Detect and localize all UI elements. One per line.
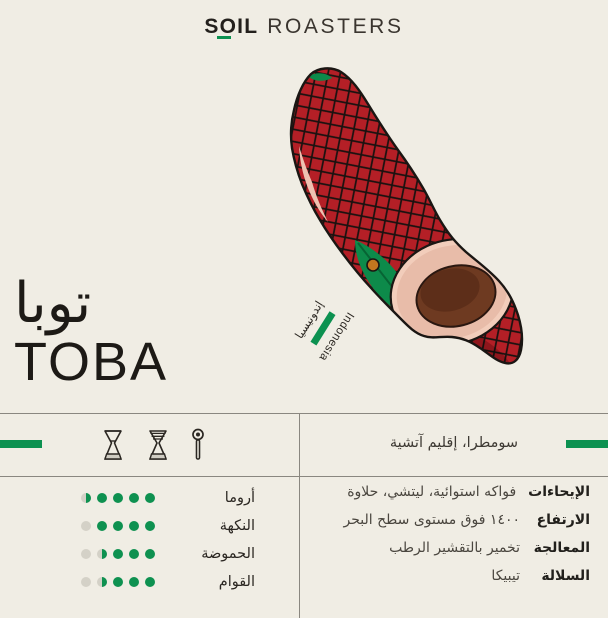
- brew-method-icons: [100, 428, 206, 462]
- brand-soil-wordmark: SOIL: [204, 16, 258, 37]
- accent-bar-right: [566, 440, 608, 448]
- divider-middle: [0, 476, 608, 477]
- detail-key: السلالة: [532, 568, 590, 584]
- rating-dots: [81, 549, 155, 559]
- rating-dot-full: [129, 577, 139, 587]
- accent-bar-left: [0, 440, 42, 448]
- rating-dot-full: [145, 493, 155, 503]
- rating-dot-empty: [81, 577, 91, 587]
- rating-label: أروما: [177, 490, 255, 506]
- detail-row: الإيحاءاتفواكه استوائية، ليتشي، حلاوة: [300, 484, 608, 512]
- detail-value: تيبيكا: [491, 568, 520, 584]
- brand-roasters-text: ROASTERS: [267, 16, 403, 37]
- rating-dot-full: [113, 521, 123, 531]
- rating-row: القوام: [0, 568, 299, 596]
- rating-label: الحموضة: [177, 546, 255, 562]
- skin-flap: [494, 256, 514, 276]
- rating-dot-full: [113, 493, 123, 503]
- detail-row: الارتفاع١٤٠٠ فوق مستوى سطح البحر: [300, 512, 608, 540]
- detail-value: فواكه استوائية، ليتشي، حلاوة: [347, 484, 516, 500]
- ratings-list: أروماالنكهةالحموضةالقوام: [0, 484, 299, 596]
- rating-label: النكهة: [177, 518, 255, 534]
- brand-o-underline-accent: [217, 36, 231, 39]
- detail-key: المعالجة: [532, 540, 590, 556]
- rating-dot-full: [113, 549, 123, 559]
- detail-row: المعالجةتخمير بالتقشير الرطب: [300, 540, 608, 568]
- rating-dot-half: [97, 577, 107, 587]
- rating-row: النكهة: [0, 512, 299, 540]
- rating-dot-full: [129, 549, 139, 559]
- detail-value: تخمير بالتقشير الرطب: [389, 540, 520, 556]
- brand-soil-text: SOIL: [204, 15, 258, 38]
- detail-key: الارتفاع: [532, 512, 590, 528]
- rating-dot-full: [97, 521, 107, 531]
- rating-row: الحموضة: [0, 540, 299, 568]
- rating-row: أروما: [0, 484, 299, 512]
- brand-logo: SOILROASTERS: [0, 16, 608, 37]
- rating-label: القوام: [177, 574, 255, 590]
- rating-dot-full: [129, 493, 139, 503]
- product-title-latin: TOBA: [14, 334, 244, 391]
- stem-nub: [367, 259, 379, 271]
- chemex-icon: [100, 428, 126, 462]
- rating-dot-empty: [81, 549, 91, 559]
- detail-value: ١٤٠٠ فوق مستوى سطح البحر: [344, 512, 520, 528]
- rating-dot-full: [129, 521, 139, 531]
- rating-dot-empty: [81, 521, 91, 531]
- origin-band: سومطرا، إقليم آتشية: [300, 414, 608, 476]
- pourover-icon: [146, 428, 170, 462]
- brew-methods-band: [0, 414, 299, 476]
- rating-dots: [81, 493, 155, 503]
- rating-dot-full: [145, 577, 155, 587]
- rating-dot-half: [81, 493, 91, 503]
- product-title-arabic: توبا: [14, 276, 244, 332]
- rating-dot-half: [97, 549, 107, 559]
- product-title: توبا TOBA: [14, 276, 244, 391]
- leaf-tip: [470, 360, 508, 390]
- stem-nub-2: [508, 385, 518, 395]
- rating-dot-full: [97, 493, 107, 503]
- origin-text: سومطرا، إقليم آتشية: [390, 435, 518, 451]
- rating-dot-full: [145, 521, 155, 531]
- coffee-bag-label: SOILROASTERS: [0, 0, 608, 618]
- details-list: الإيحاءاتفواكه استوائية، ليتشي، حلاوةالا…: [300, 484, 608, 596]
- rating-dots: [81, 521, 155, 531]
- rating-dots: [81, 577, 155, 587]
- rating-dot-full: [113, 577, 123, 587]
- detail-row: السلالةتيبيكا: [300, 568, 608, 596]
- rating-dot-full: [145, 549, 155, 559]
- detail-key: الإيحاءات: [528, 484, 590, 500]
- cupping-spoon-icon: [190, 428, 206, 462]
